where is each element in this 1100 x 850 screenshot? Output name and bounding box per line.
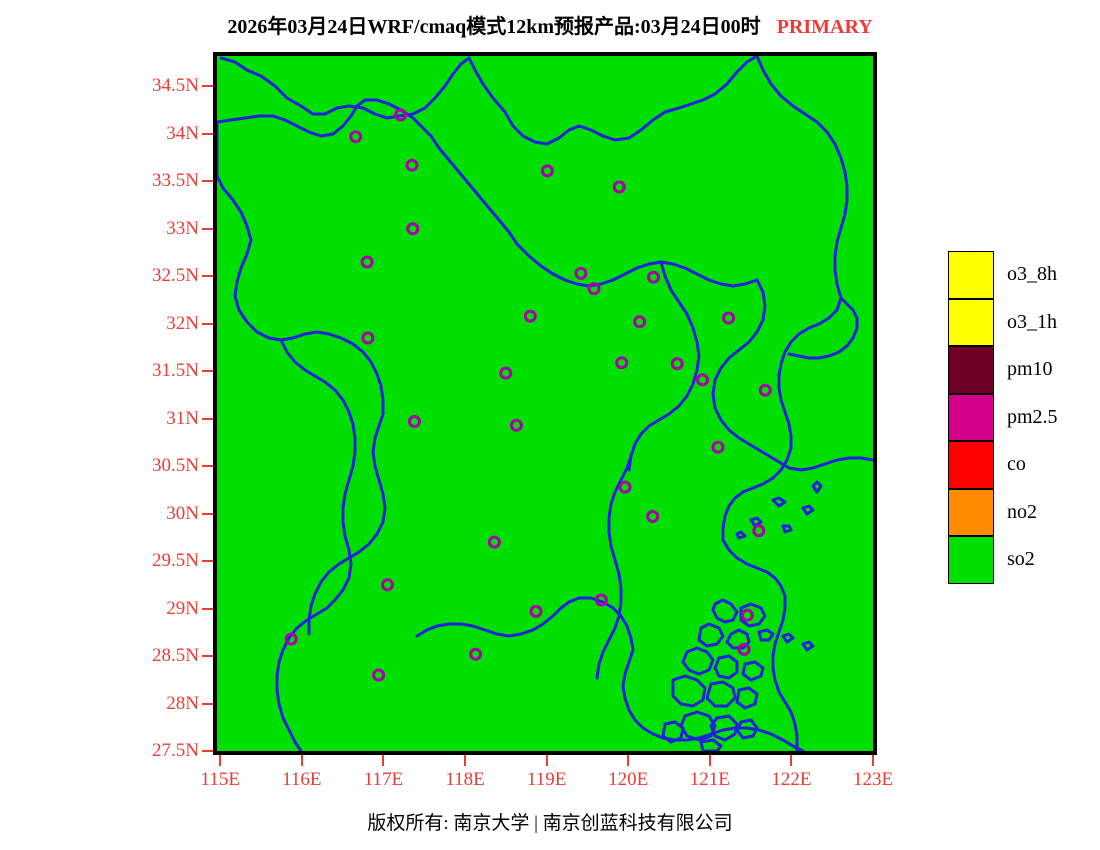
legend-item-o3-1h[interactable]: o3_1h: [948, 299, 1098, 347]
y-axis-tick: [202, 465, 213, 467]
y-axis-tick: [202, 560, 213, 562]
y-axis-label: 34N: [166, 123, 199, 145]
y-axis-label: 33.5N: [152, 170, 199, 192]
y-axis-tick: [202, 228, 213, 230]
legend-item-co[interactable]: co: [948, 441, 1098, 489]
y-axis-label: 30N: [166, 503, 199, 525]
y-axis: 34.5N34N33.5N33N32.5N32N31.5N31N30.5N30N…: [0, 0, 213, 850]
x-axis-label: 119E: [527, 769, 566, 791]
y-axis-tick: [202, 513, 213, 515]
y-axis-tick: [202, 703, 213, 705]
x-axis-tick: [382, 755, 384, 766]
y-axis-label: 28N: [166, 693, 199, 715]
legend-color-swatch: [948, 441, 994, 489]
y-axis-label: 31.5N: [152, 360, 199, 382]
y-axis-tick: [202, 418, 213, 420]
y-axis-tick: [202, 750, 213, 752]
x-axis-label: 120E: [608, 769, 648, 791]
y-axis-label: 32.5N: [152, 265, 199, 287]
legend-color-swatch: [948, 299, 994, 347]
y-axis-label: 29.5N: [152, 550, 199, 572]
legend-item-o3-8h[interactable]: o3_8h: [948, 251, 1098, 299]
legend-item-pm2-5[interactable]: pm2.5: [948, 394, 1098, 442]
legend-label: so2: [1007, 548, 1035, 571]
legend-label: o3_1h: [1007, 311, 1057, 334]
y-axis-label: 32N: [166, 313, 199, 335]
y-axis-tick: [202, 275, 213, 277]
legend-item-so2[interactable]: so2: [948, 536, 1098, 584]
legend-color-swatch: [948, 346, 994, 394]
legend-label: pm2.5: [1007, 406, 1058, 429]
primary-label: PRIMARY: [777, 16, 873, 38]
pollutant-legend: o3_8ho3_1hpm10pm2.5cono2so2: [948, 251, 1098, 584]
legend-label: pm10: [1007, 358, 1053, 381]
legend-color-swatch: [948, 536, 994, 584]
legend-color-swatch: [948, 251, 994, 299]
legend-color-swatch: [948, 394, 994, 442]
x-axis-label: 122E: [771, 769, 811, 791]
y-axis-tick: [202, 655, 213, 657]
legend-label: co: [1007, 453, 1026, 476]
y-axis-label: 28.5N: [152, 645, 199, 667]
y-axis-tick: [202, 323, 213, 325]
y-axis-label: 29N: [166, 598, 199, 620]
x-axis-tick: [627, 755, 629, 766]
y-axis-label: 31N: [166, 408, 199, 430]
x-axis: 115E116E117E118E119E120E121E122E123E: [0, 755, 1100, 815]
y-axis-tick: [202, 180, 213, 182]
legend-item-no2[interactable]: no2: [948, 489, 1098, 537]
y-axis-label: 30.5N: [152, 455, 199, 477]
legend-color-swatch: [948, 489, 994, 537]
copyright-footer: 版权所有: 南京大学 | 南京创蓝科技有限公司: [0, 808, 1100, 835]
x-axis-tick: [709, 755, 711, 766]
legend-item-pm10[interactable]: pm10: [948, 346, 1098, 394]
x-axis-tick: [546, 755, 548, 766]
page-title: 2026年03月24日WRF/cmaq模式12km预报产品:03月24日00时: [227, 16, 760, 38]
x-axis-label: 115E: [201, 769, 240, 791]
x-axis-label: 116E: [282, 769, 321, 791]
x-axis-label: 123E: [853, 769, 893, 791]
y-axis-tick: [202, 370, 213, 372]
y-axis-tick: [202, 85, 213, 87]
x-axis-tick: [464, 755, 466, 766]
x-axis-tick: [790, 755, 792, 766]
x-axis-tick: [219, 755, 221, 766]
x-axis-tick: [301, 755, 303, 766]
legend-label: o3_8h: [1007, 263, 1057, 286]
x-axis-label: 117E: [364, 769, 403, 791]
y-axis-tick: [202, 133, 213, 135]
legend-label: no2: [1007, 501, 1037, 524]
map-canvas: [217, 56, 873, 751]
x-axis-label: 118E: [445, 769, 484, 791]
x-axis-label: 121E: [690, 769, 730, 791]
x-axis-tick: [872, 755, 874, 766]
y-axis-label: 34.5N: [152, 75, 199, 97]
forecast-map[interactable]: [213, 52, 877, 755]
y-axis-label: 33N: [166, 218, 199, 240]
y-axis-tick: [202, 608, 213, 610]
